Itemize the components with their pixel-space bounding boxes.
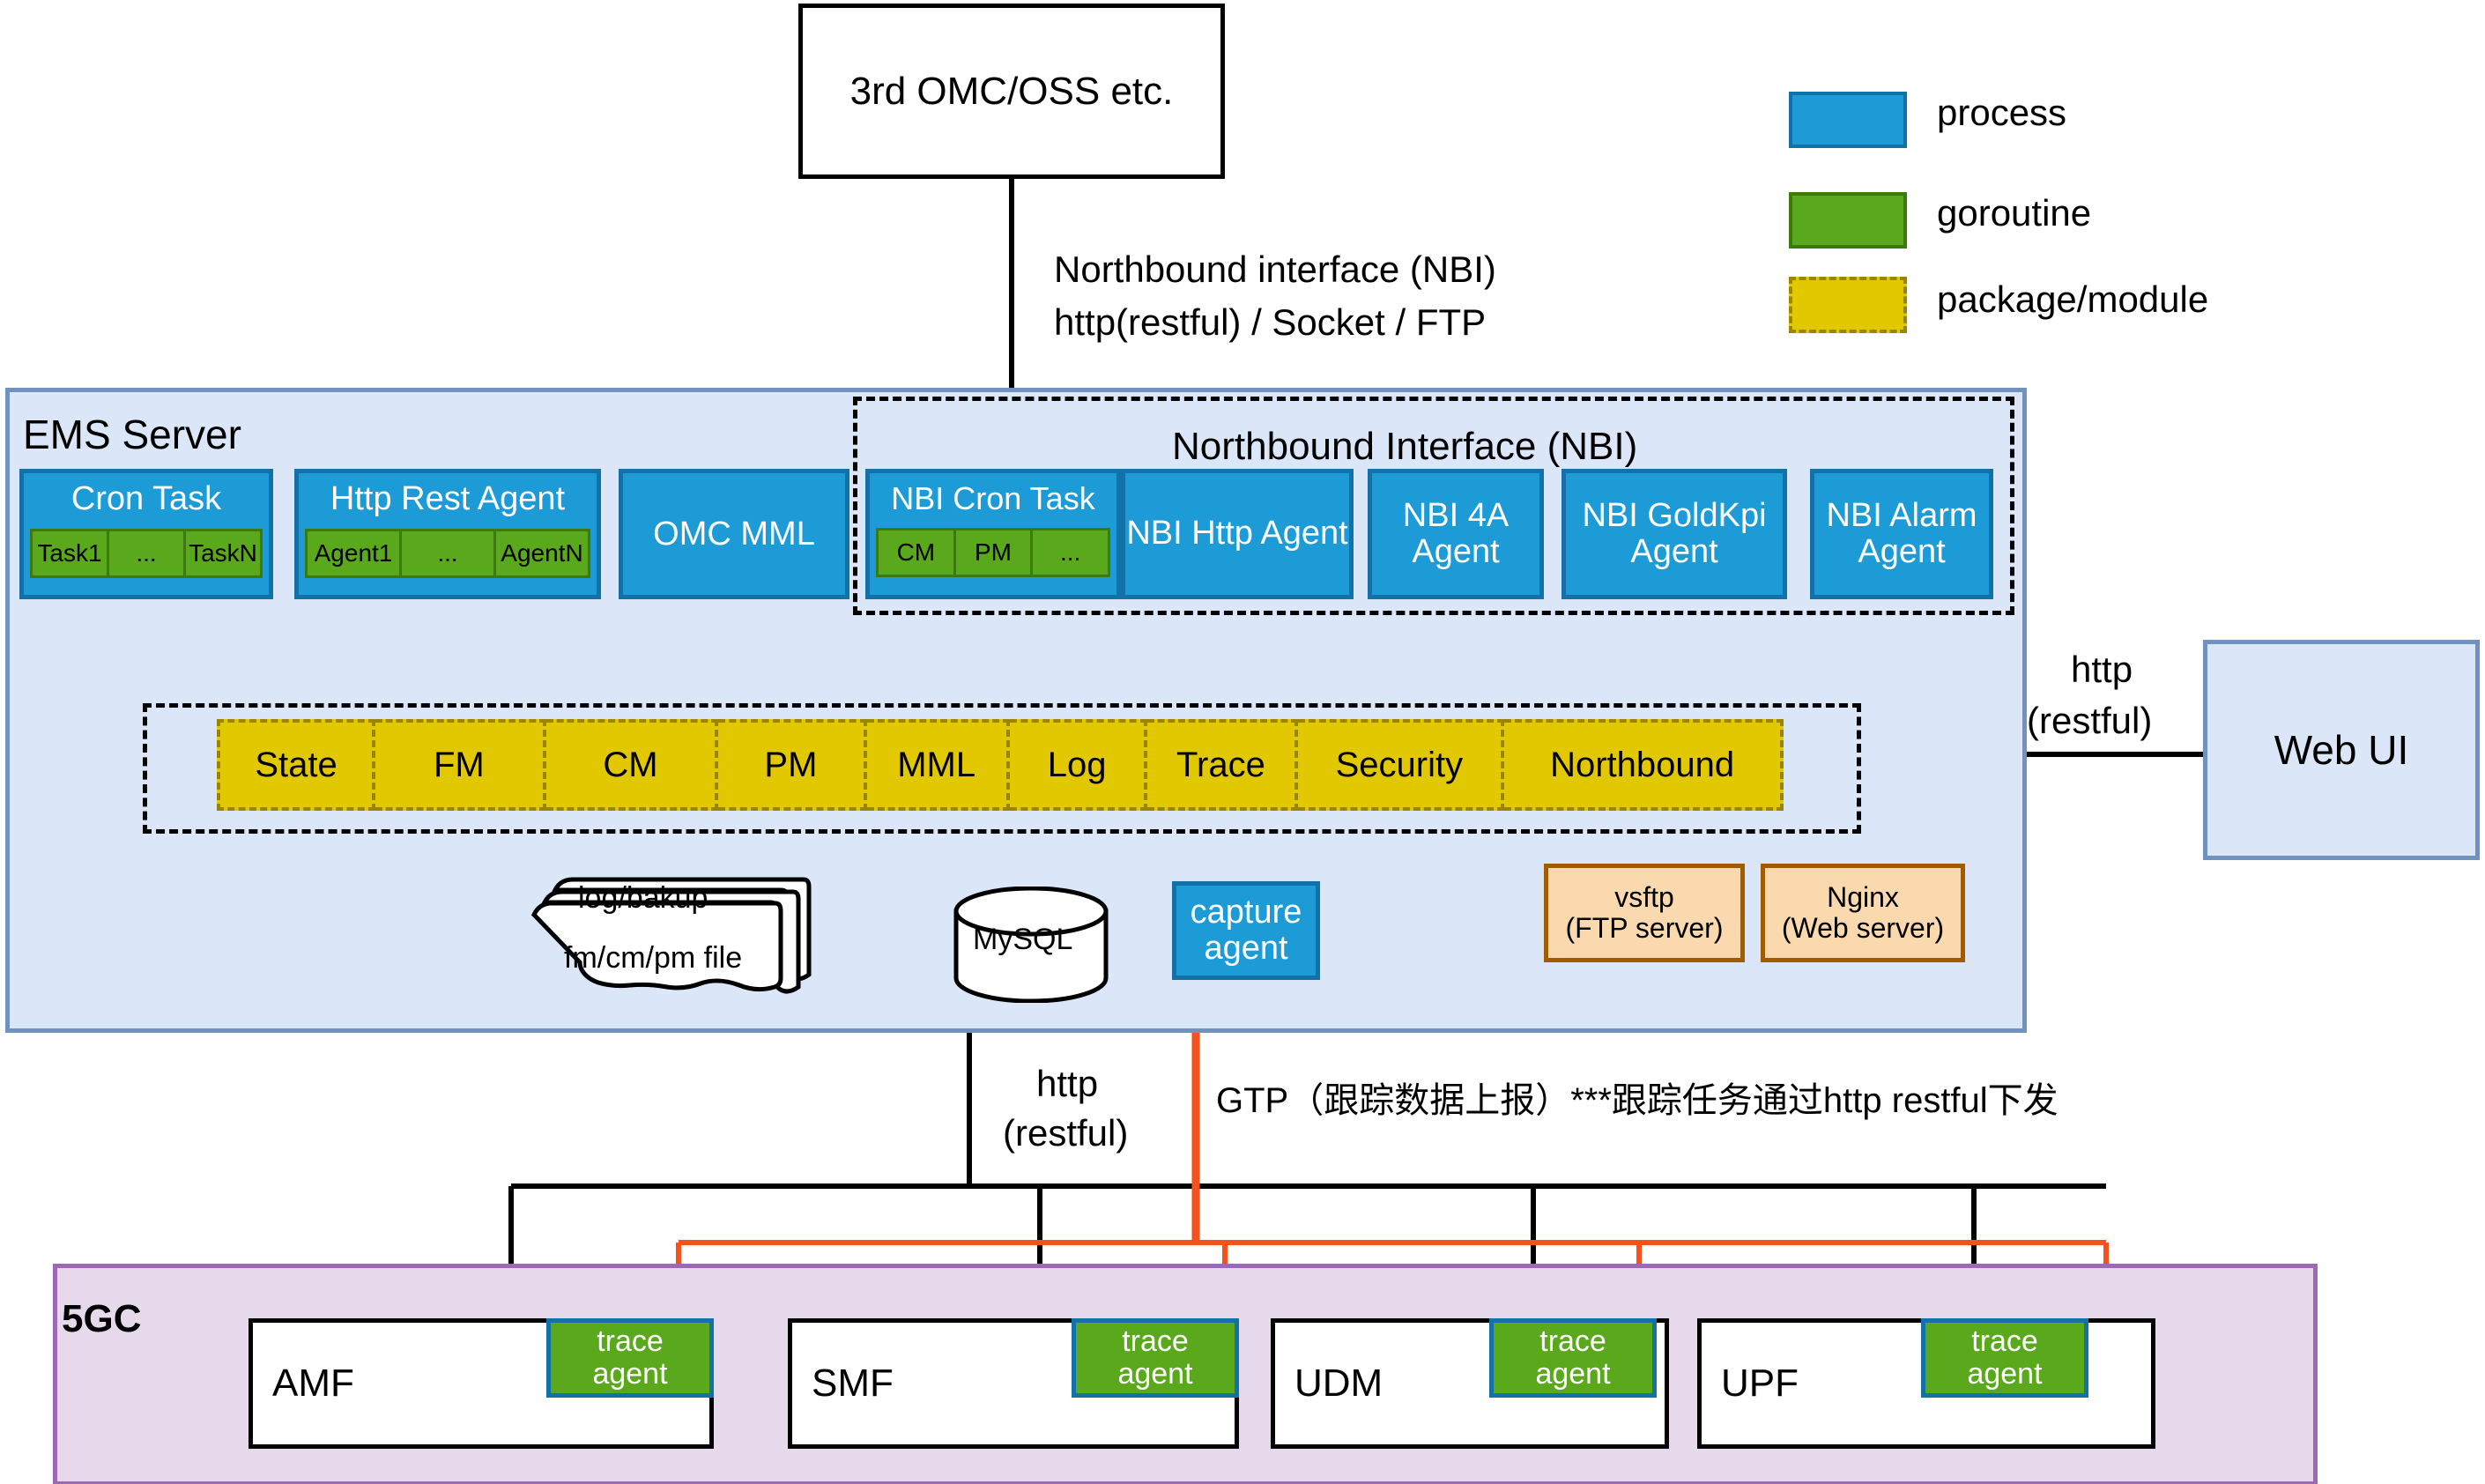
process-cron-task[interactable]: Cron Task Task1 ... TaskN xyxy=(19,469,273,599)
nginx-label-line2: (Web server) xyxy=(1782,913,1944,944)
nbi-link-label-line1: Northbound interface (NBI) xyxy=(1054,249,1496,291)
trace-agent-udm-line2: agent xyxy=(1535,1358,1610,1391)
goroutine-agent1[interactable]: Agent1 xyxy=(305,529,402,578)
legend-swatch-process xyxy=(1789,92,1907,148)
trace-agent-upf-line1: trace xyxy=(1971,1325,2038,1358)
ems-server-title: EMS Server xyxy=(23,411,241,458)
vsftp-label-line2: (FTP server) xyxy=(1566,913,1724,944)
goroutine-nbi-cm[interactable]: CM xyxy=(876,528,956,577)
external-omc-oss-box[interactable]: 3rd OMC/OSS etc. xyxy=(798,4,1225,179)
process-nbi-http-agent-label: NBI Http Agent xyxy=(1126,516,1347,552)
module-bar: State FM CM PM MML Log Trace Security No… xyxy=(217,719,1784,811)
goroutine-task1[interactable]: Task1 xyxy=(30,529,109,578)
process-cron-task-label: Cron Task xyxy=(24,480,269,518)
legend-label-process: process xyxy=(1937,92,2066,134)
file-store-label-line1: log/bakup xyxy=(578,881,708,916)
external-omc-oss-label: 3rd OMC/OSS etc. xyxy=(850,70,1174,114)
nginx-label-line1: Nginx xyxy=(1827,882,1899,913)
nbi-link-label-line2: http(restful) / Socket / FTP xyxy=(1054,301,1486,344)
vsftp-label-line1: vsftp xyxy=(1614,882,1674,913)
diagram-canvas: process goroutine package/module 3rd OMC… xyxy=(0,0,2485,1484)
goroutine-agent-ellipsis[interactable]: ... xyxy=(402,529,496,578)
web-ui-box[interactable]: Web UI xyxy=(2203,640,2480,860)
trace-agent-udm[interactable]: trace agent xyxy=(1489,1318,1657,1398)
trace-agent-udm-line1: trace xyxy=(1539,1325,1606,1358)
process-nbi-4a-agent[interactable]: NBI 4A Agent xyxy=(1368,469,1544,599)
goroutine-nbi-pm[interactable]: PM xyxy=(956,528,1034,577)
trace-agent-upf-line2: agent xyxy=(1967,1358,2042,1391)
webui-link-label-line2: (restful) xyxy=(2027,700,2152,742)
nginx-server-box[interactable]: Nginx (Web server) xyxy=(1761,864,1965,962)
process-nbi-alarm-agent[interactable]: NBI Alarm Agent xyxy=(1810,469,1993,599)
module-mml[interactable]: MML xyxy=(867,719,1010,811)
capture-agent-box[interactable]: capture agent xyxy=(1172,881,1320,980)
module-pm[interactable]: PM xyxy=(718,719,866,811)
trace-agent-smf[interactable]: trace agent xyxy=(1072,1318,1239,1398)
goroutine-agentn[interactable]: AgentN xyxy=(496,529,590,578)
webui-link-label-line1: http xyxy=(2071,649,2133,691)
goroutine-taskn[interactable]: TaskN xyxy=(186,529,263,578)
trace-agent-smf-line1: trace xyxy=(1122,1325,1189,1358)
process-http-rest-agent-label: Http Rest Agent xyxy=(299,480,597,518)
module-fm[interactable]: FM xyxy=(375,719,546,811)
module-northbound[interactable]: Northbound xyxy=(1504,719,1784,811)
gtp-note-label: GTP（跟踪数据上报）***跟踪任务通过http restful下发 xyxy=(1216,1072,2058,1123)
process-nbi-4a-agent-label: NBI 4A Agent xyxy=(1372,498,1539,570)
nf-upf-label: UPF xyxy=(1721,1362,1799,1406)
vsftp-server-box[interactable]: vsftp (FTP server) xyxy=(1544,864,1745,962)
web-ui-label: Web UI xyxy=(2274,726,2409,774)
legend-swatch-module xyxy=(1789,277,1907,333)
process-nbi-cron-task[interactable]: NBI Cron Task CM PM ... xyxy=(865,469,1121,599)
nf-amf-label: AMF xyxy=(272,1362,354,1406)
legend-label-module: package/module xyxy=(1937,278,2208,321)
trace-agent-amf-line1: trace xyxy=(597,1325,664,1358)
process-nbi-cron-task-label: NBI Cron Task xyxy=(870,480,1116,517)
legend-swatch-goroutine xyxy=(1789,192,1907,249)
capture-agent-label-line2: agent xyxy=(1204,931,1287,967)
http-link-label-line2: (restful) xyxy=(1003,1112,1128,1154)
legend-label-goroutine: goroutine xyxy=(1937,192,2091,234)
trace-agent-smf-line2: agent xyxy=(1117,1358,1192,1391)
process-nbi-goldkpi-agent-label: NBI GoldKpi Agent xyxy=(1566,498,1783,570)
goroutine-task-ellipsis[interactable]: ... xyxy=(109,529,186,578)
nbi-group-title: Northbound Interface (NBI) xyxy=(1172,425,1637,469)
module-security[interactable]: Security xyxy=(1298,719,1505,811)
process-nbi-goldkpi-agent[interactable]: NBI GoldKpi Agent xyxy=(1561,469,1787,599)
fivegc-title: 5GC xyxy=(62,1297,141,1341)
process-http-rest-agent[interactable]: Http Rest Agent Agent1 ... AgentN xyxy=(294,469,601,599)
goroutine-nbi-ellipsis[interactable]: ... xyxy=(1033,528,1110,577)
database-label: MySQL xyxy=(973,923,1072,957)
module-cm[interactable]: CM xyxy=(546,719,719,811)
process-nbi-alarm-agent-label: NBI Alarm Agent xyxy=(1814,498,1989,570)
nf-udm-label: UDM xyxy=(1294,1362,1383,1406)
process-omc-mml[interactable]: OMC MML xyxy=(619,469,849,599)
module-trace[interactable]: Trace xyxy=(1147,719,1297,811)
process-omc-mml-label: OMC MML xyxy=(653,516,815,553)
module-state[interactable]: State xyxy=(217,719,375,811)
trace-agent-amf[interactable]: trace agent xyxy=(546,1318,714,1398)
capture-agent-label-line1: capture xyxy=(1191,894,1302,931)
http-link-label-line1: http xyxy=(1036,1063,1098,1105)
module-log[interactable]: Log xyxy=(1010,719,1147,811)
trace-agent-upf[interactable]: trace agent xyxy=(1921,1318,2088,1398)
process-nbi-http-agent[interactable]: NBI Http Agent xyxy=(1121,469,1354,599)
nf-smf-label: SMF xyxy=(812,1362,894,1406)
trace-agent-amf-line2: agent xyxy=(592,1358,667,1391)
file-store-label-line2: fm/cm/pm file xyxy=(564,941,742,976)
